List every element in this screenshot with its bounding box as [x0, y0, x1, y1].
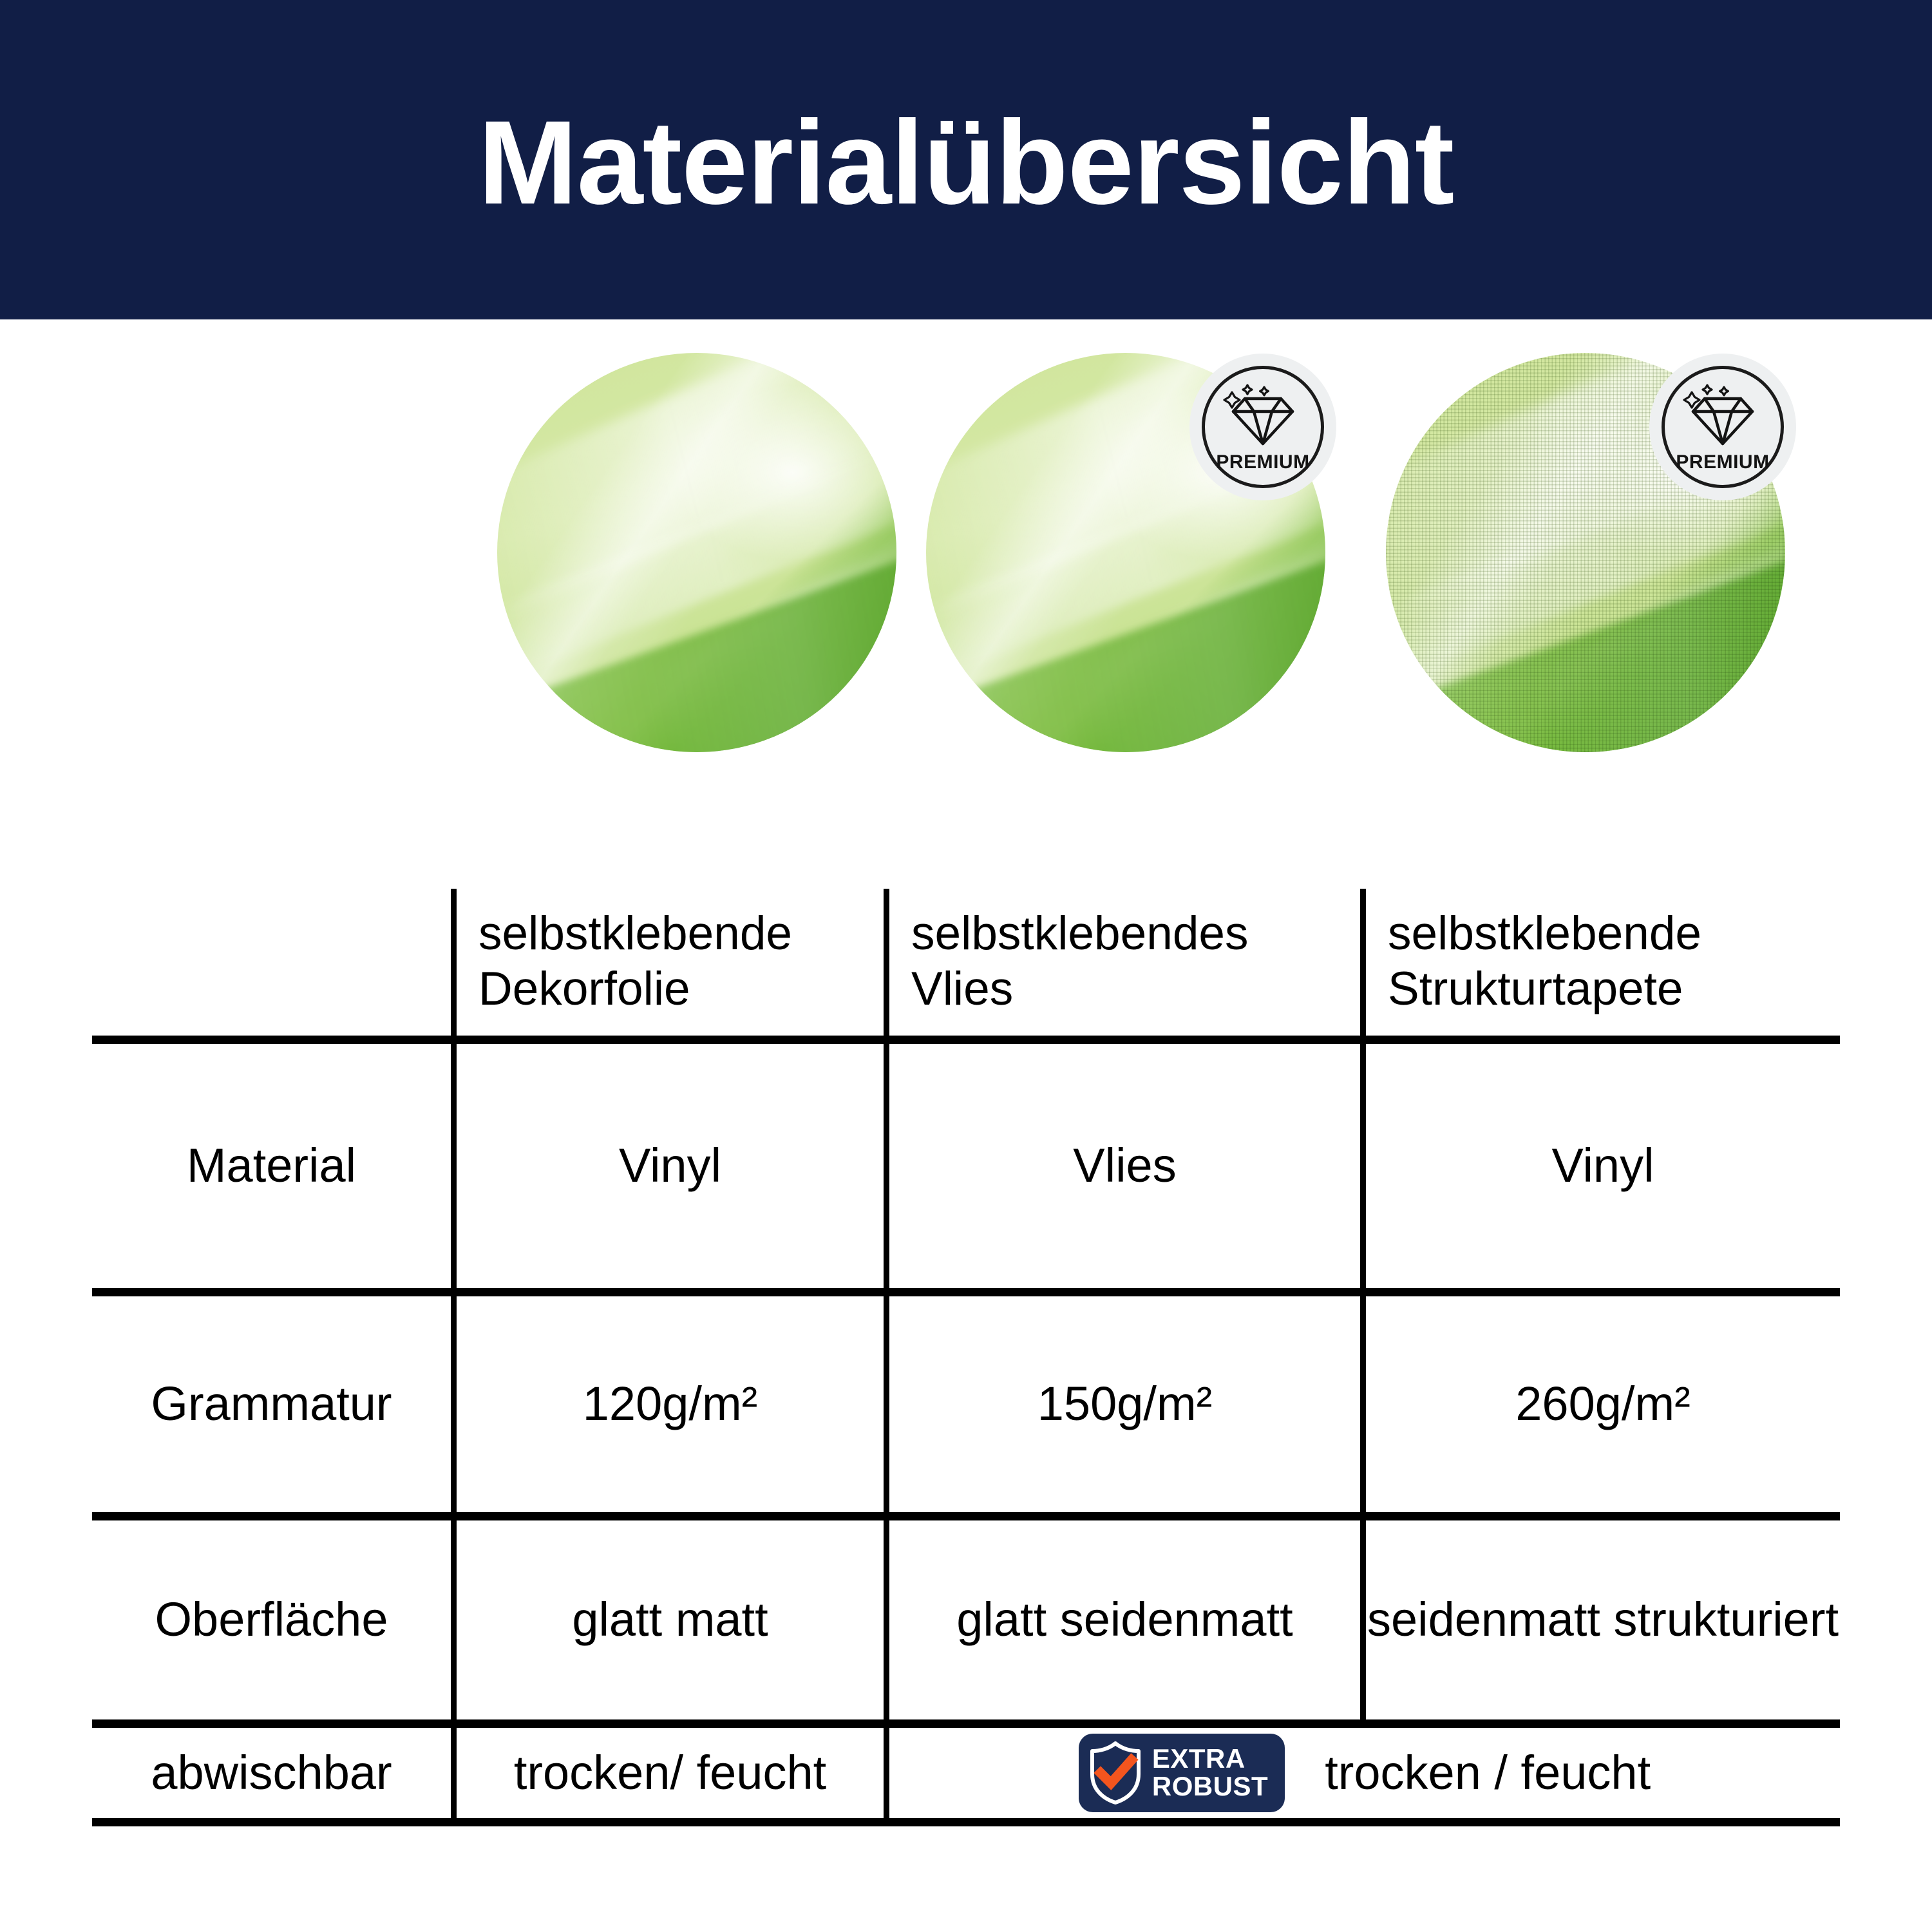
swatch-vlies: PREMIUM	[926, 353, 1325, 752]
table-cell-grammatur-dekorfolie: 120g/m²	[457, 1296, 884, 1512]
table-cell-grammatur-vlies: 150g/m²	[889, 1296, 1360, 1512]
table-rule-row1	[92, 1288, 1840, 1296]
table-cell-material-dekorfolie: Vinyl	[457, 1044, 884, 1288]
extra-robust-badge: EXTRA ROBUST	[1079, 1734, 1285, 1812]
table-cell-oberflaeche-vlies: glatt seidenmatt	[889, 1520, 1360, 1719]
table-divider-3	[1360, 889, 1366, 1719]
extra-robust-line1: EXTRA	[1152, 1745, 1268, 1773]
premium-badge-label: PREMIUM	[1676, 453, 1769, 472]
table-cell-material-vlies: Vlies	[889, 1044, 1360, 1288]
table-cell-abwischbar-vlies-strukturtapete: EXTRA ROBUST trocken / feucht	[889, 1728, 1840, 1818]
table-divider-2	[884, 889, 889, 1818]
extra-robust-line2: ROBUST	[1152, 1773, 1268, 1801]
diamond-icon	[1681, 382, 1764, 449]
premium-badge: PREMIUM	[1195, 359, 1331, 495]
table-divider-1	[451, 889, 457, 1818]
material-comparison-table: selbstklebende Dekorfolie selbstklebende…	[92, 863, 1840, 1829]
table-rule-header	[92, 1036, 1840, 1044]
table-cell-material-strukturtapete: Vinyl	[1366, 1044, 1840, 1288]
page-title: Materialübersicht	[478, 104, 1454, 223]
table-cell-abwischbar-value: trocken / feucht	[1325, 1746, 1651, 1800]
header-banner: Materialübersicht	[0, 0, 1932, 319]
table-header-dekorfolie: selbstklebende Dekorfolie	[478, 887, 865, 1036]
shield-check-icon	[1088, 1741, 1143, 1805]
extra-robust-text: EXTRA ROBUST	[1152, 1745, 1268, 1801]
table-cell-oberflaeche-strukturtapete: seidenmatt strukturiert	[1366, 1520, 1840, 1719]
table-header-strukturtapete: selbstklebende Strukturtapete	[1388, 887, 1826, 1036]
swatch-image-dekorfolie	[497, 353, 896, 752]
material-swatch-row: PREMIUM	[0, 353, 1932, 765]
table-rule-row3	[92, 1719, 1840, 1728]
table-row-label-abwischbar: abwischbar	[92, 1728, 451, 1818]
table-rule-row2	[92, 1512, 1840, 1520]
premium-badge-label: PREMIUM	[1216, 453, 1309, 472]
table-header-vlies: selbstklebendes Vlies	[911, 887, 1336, 1036]
diamond-icon	[1222, 382, 1304, 449]
table-rule-bottom	[92, 1818, 1840, 1826]
table-row-label-material: Material	[92, 1044, 451, 1288]
table-cell-oberflaeche-dekorfolie: glatt matt	[457, 1520, 884, 1719]
premium-badge: PREMIUM	[1655, 359, 1790, 495]
table-cell-abwischbar-dekorfolie: trocken/ feucht	[457, 1728, 884, 1818]
swatch-strukturtapete: PREMIUM	[1386, 353, 1785, 752]
table-cell-grammatur-strukturtapete: 260g/m²	[1366, 1296, 1840, 1512]
table-row-label-oberflaeche: Oberfläche	[92, 1520, 451, 1719]
table-row-label-grammatur: Grammatur	[92, 1296, 451, 1512]
swatch-dekorfolie	[497, 353, 896, 752]
